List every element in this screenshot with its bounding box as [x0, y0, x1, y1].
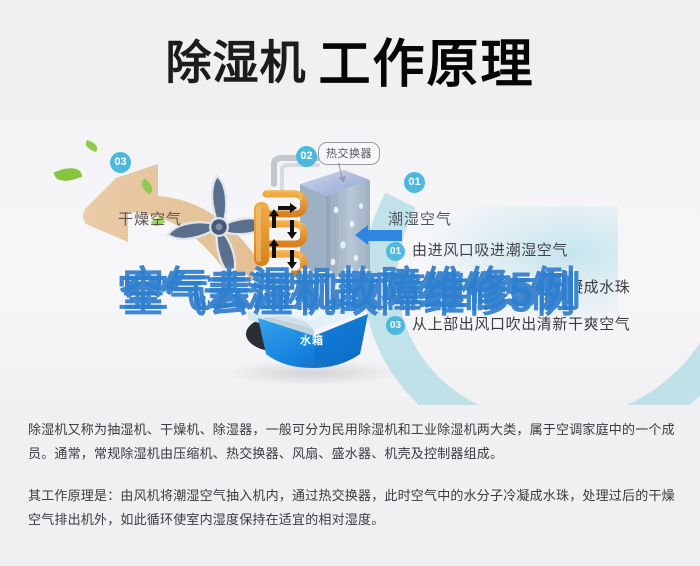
step-item: 03从上部出风口吹出清新干爽空气 — [386, 314, 686, 351]
diagram-badge-02: 02 — [296, 146, 317, 167]
water-tank-label: 水箱 — [300, 332, 324, 348]
diagram-badge-01: 01 — [404, 172, 425, 193]
page-title-part2: 工作原理 — [318, 36, 534, 94]
step-badge: 03 — [386, 316, 405, 335]
humid-air-label: 潮湿空气 — [388, 208, 452, 229]
overlay-headline: 空气去湿机故障维修5例 — [0, 258, 700, 318]
heat-exchanger-callout: 热交换器 — [318, 142, 380, 165]
page-title-part1: 除湿机 — [165, 37, 306, 89]
leaf-icon — [84, 140, 99, 152]
unit-shadow — [222, 360, 402, 386]
paragraph: 除湿机又称为抽湿机、干燥机、除湿器，一般可分为民用除湿机和工业除湿机两大类，属于… — [28, 418, 676, 466]
overlay-headline-text: 空气去湿机故障维修5例 — [123, 269, 578, 315]
page-root: 除湿机工作原理 — [0, 0, 700, 566]
paragraph: 其工作原理是：由风机将潮湿空气抽入机内，通过热交换器，此时空气中的水分子冷凝成水… — [28, 484, 676, 532]
article-body: 除湿机又称为抽湿机、干燥机、除湿器，一般可分为民用除湿机和工业除湿机两大类，属于… — [28, 418, 676, 532]
page-title: 除湿机工作原理 — [0, 22, 700, 97]
dry-air-label: 干燥空气 — [118, 208, 182, 229]
diagram-badge-03: 03 — [110, 152, 131, 173]
